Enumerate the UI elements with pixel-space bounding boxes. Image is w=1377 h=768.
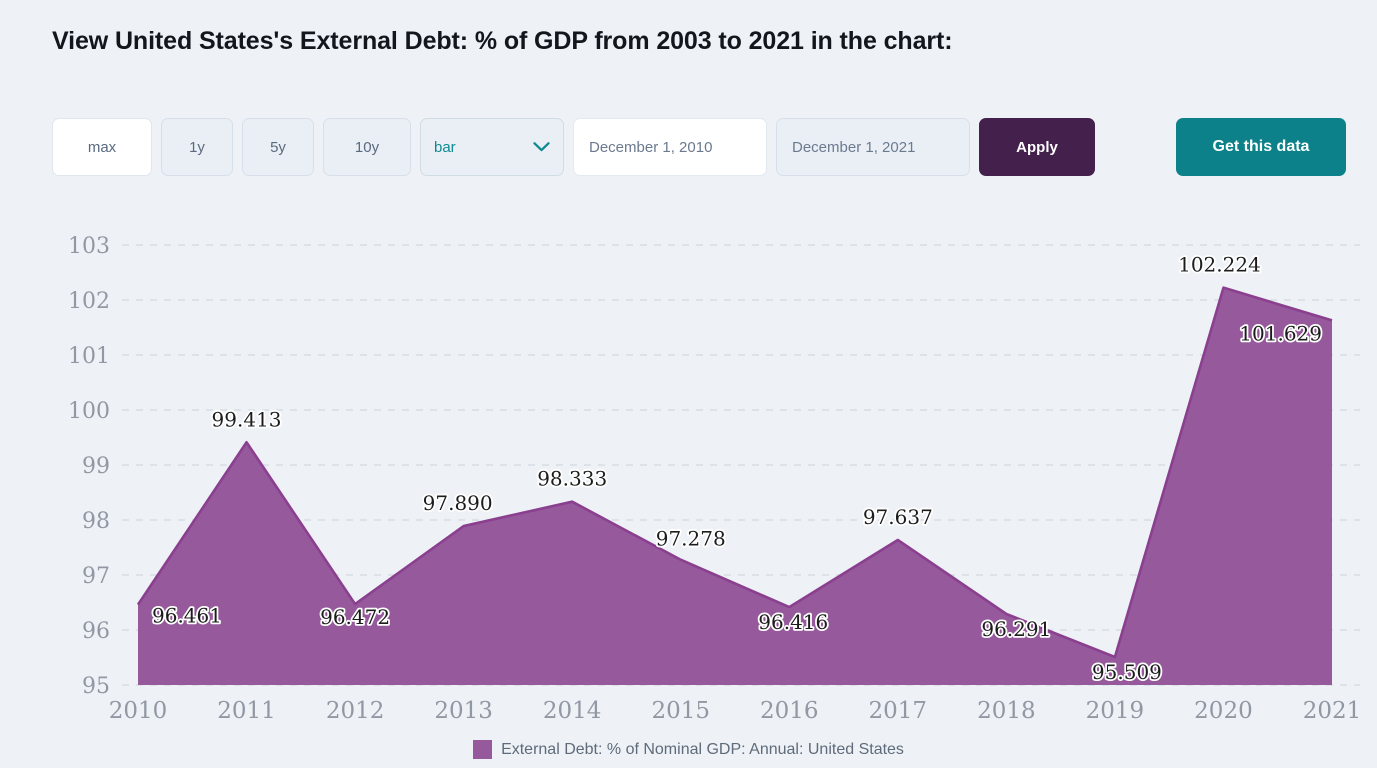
range-button-10y[interactable]: 10y xyxy=(323,118,411,176)
data-point-label: 101.629 xyxy=(1239,321,1322,345)
data-point-label: 97.278 xyxy=(656,527,726,551)
data-point-label: 96.291 xyxy=(981,617,1051,641)
data-point-label: 99.413 xyxy=(212,407,282,431)
chevron-down-icon xyxy=(533,142,550,153)
y-tick-label: 95 xyxy=(82,674,110,699)
chart-legend: External Debt: % of Nominal GDP: Annual:… xyxy=(0,740,1377,759)
x-tick-label: 2013 xyxy=(434,698,493,724)
area-chart: 9596979899100101102103 96.46199.41396.47… xyxy=(0,210,1377,768)
range-button-max-label: max xyxy=(88,139,116,156)
range-button-5y[interactable]: 5y xyxy=(242,118,314,176)
start-date-input[interactable]: December 1, 2010 xyxy=(573,118,767,176)
x-tick-label: 2018 xyxy=(977,698,1036,724)
page-title: View United States's External Debt: % of… xyxy=(52,27,952,56)
end-date-value: December 1, 2021 xyxy=(792,139,915,156)
chart-type-value: bar xyxy=(434,139,456,156)
x-tick-label: 2012 xyxy=(326,698,385,724)
chart-toolbar: max 1y 5y 10y bar December 1, 2010 Decem… xyxy=(52,118,1095,176)
x-tick-label: 2011 xyxy=(217,698,276,724)
range-button-1y[interactable]: 1y xyxy=(161,118,233,176)
start-date-value: December 1, 2010 xyxy=(589,139,712,156)
data-point-label: 95.509 xyxy=(1092,660,1162,684)
series-area xyxy=(138,288,1332,685)
data-point-label: 96.416 xyxy=(758,610,828,634)
x-tick-label: 2014 xyxy=(543,698,602,724)
range-button-5y-label: 5y xyxy=(270,139,286,156)
range-button-1y-label: 1y xyxy=(189,139,205,156)
get-this-data-button[interactable]: Get this data xyxy=(1176,118,1346,176)
range-button-max[interactable]: max xyxy=(52,118,152,176)
legend-swatch xyxy=(473,740,492,759)
data-point-label: 96.472 xyxy=(320,605,390,629)
legend-label: External Debt: % of Nominal GDP: Annual:… xyxy=(501,741,904,759)
y-tick-label: 102 xyxy=(68,289,110,314)
y-tick-label: 101 xyxy=(68,344,110,369)
y-tick-label: 99 xyxy=(82,454,110,479)
y-tick-label: 100 xyxy=(68,399,110,424)
y-tick-label: 96 xyxy=(82,619,110,644)
apply-button-label: Apply xyxy=(1016,139,1058,156)
apply-button[interactable]: Apply xyxy=(979,118,1095,176)
x-tick-label: 2010 xyxy=(109,698,168,724)
data-point-label: 102.224 xyxy=(1178,253,1261,277)
x-tick-label: 2019 xyxy=(1086,698,1145,724)
y-tick-label: 97 xyxy=(82,564,110,589)
y-tick-label: 98 xyxy=(82,509,110,534)
data-point-label: 96.461 xyxy=(152,604,222,628)
x-tick-label: 2016 xyxy=(760,698,819,724)
chart-area: 9596979899100101102103 96.46199.41396.47… xyxy=(0,210,1377,768)
x-axis-labels: 2010201120122013201420152016201720182019… xyxy=(109,698,1362,724)
x-tick-label: 2017 xyxy=(869,698,928,724)
y-tick-label: 103 xyxy=(68,234,110,259)
data-point-label: 97.890 xyxy=(423,491,493,515)
data-point-label: 98.333 xyxy=(537,467,607,491)
get-this-data-label: Get this data xyxy=(1213,138,1310,156)
x-tick-label: 2015 xyxy=(651,698,710,724)
x-tick-label: 2021 xyxy=(1303,698,1362,724)
range-button-10y-label: 10y xyxy=(355,139,379,156)
y-axis-labels: 9596979899100101102103 xyxy=(68,234,110,699)
end-date-input[interactable]: December 1, 2021 xyxy=(776,118,970,176)
data-point-label: 97.637 xyxy=(863,505,933,529)
chart-type-select[interactable]: bar xyxy=(420,118,564,176)
x-tick-label: 2020 xyxy=(1194,698,1253,724)
